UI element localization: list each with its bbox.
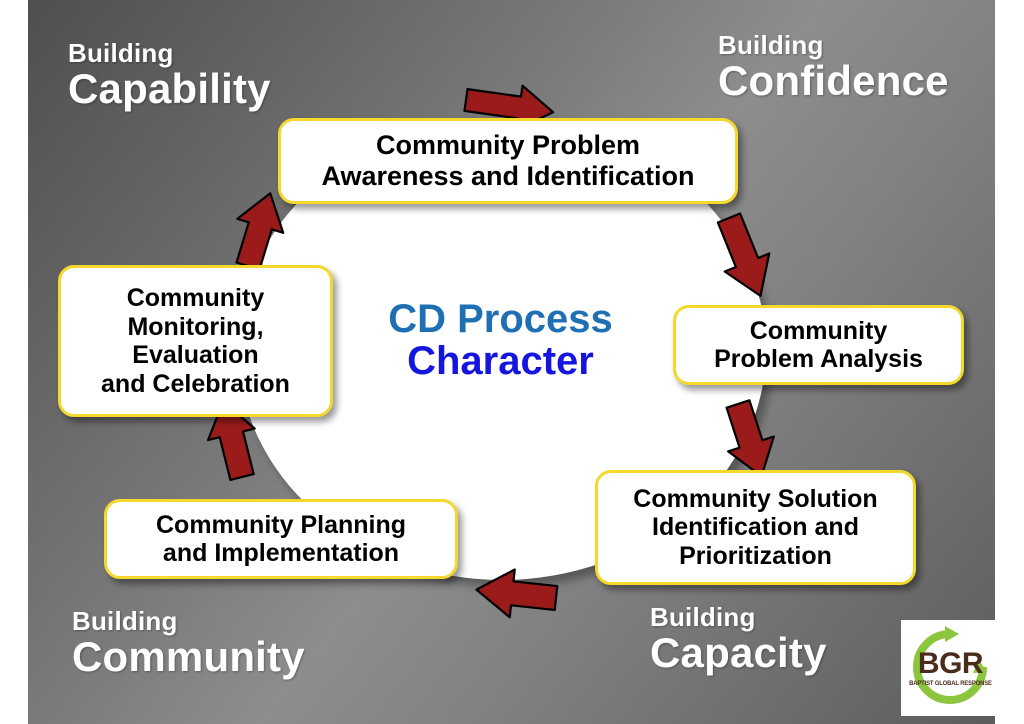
corner-label-prefix: Building: [718, 32, 949, 59]
corner-label-community: Building Community: [72, 608, 305, 678]
bgr-logo: BGR BAPTIST GLOBAL RESPONSE: [901, 620, 1000, 716]
corner-label-word: Capacity: [650, 632, 827, 675]
bgr-wordmark: BGR: [901, 649, 1000, 679]
node-line: Community Problem: [313, 130, 702, 161]
node-line: and Implementation: [148, 539, 414, 568]
corner-label-word: Community: [72, 636, 305, 679]
node-community-solution-identification[interactable]: Community Solution Identification and Pr…: [595, 470, 916, 585]
node-line: Community: [93, 284, 298, 313]
slide-canvas: Building Capability Building Confidence …: [0, 0, 1024, 724]
node-line: and Celebration: [93, 370, 298, 399]
corner-label-word: Confidence: [718, 60, 949, 103]
center-title: CD Process Character: [338, 298, 663, 383]
node-line: Prioritization: [625, 542, 885, 571]
node-text: Community Problem Awareness and Identifi…: [313, 130, 702, 192]
node-community-monitoring-evaluation[interactable]: Community Monitoring, Evaluation and Cel…: [58, 265, 333, 417]
node-line: Community Solution: [625, 485, 885, 514]
corner-label-confidence: Building Confidence: [718, 32, 949, 102]
corner-label-capability: Building Capability: [68, 40, 271, 110]
node-text: Community Monitoring, Evaluation and Cel…: [93, 284, 298, 398]
corner-label-capacity: Building Capacity: [650, 604, 827, 674]
center-title-line1: CD Process: [338, 298, 663, 340]
bgr-tagline: BAPTIST GLOBAL RESPONSE: [905, 680, 996, 687]
corner-label-prefix: Building: [68, 40, 271, 67]
node-line: Awareness and Identification: [313, 161, 702, 192]
corner-label-word: Capability: [68, 68, 271, 111]
node-text: Community Solution Identification and Pr…: [625, 485, 885, 571]
node-text: Community Planning and Implementation: [148, 511, 414, 568]
node-line: Evaluation: [93, 341, 298, 370]
node-text: Community Problem Analysis: [706, 317, 931, 374]
node-line: Community: [706, 317, 931, 346]
node-line: Community Planning: [148, 511, 414, 540]
center-title-line2: Character: [338, 340, 663, 382]
corner-label-prefix: Building: [72, 608, 305, 635]
corner-label-prefix: Building: [650, 604, 827, 631]
node-community-planning-implementation[interactable]: Community Planning and Implementation: [104, 499, 458, 579]
node-community-problem-analysis[interactable]: Community Problem Analysis: [673, 305, 964, 385]
node-community-problem-awareness[interactable]: Community Problem Awareness and Identifi…: [278, 118, 738, 204]
node-line: Monitoring,: [93, 313, 298, 342]
node-line: Identification and: [625, 513, 885, 542]
node-line: Problem Analysis: [706, 345, 931, 374]
